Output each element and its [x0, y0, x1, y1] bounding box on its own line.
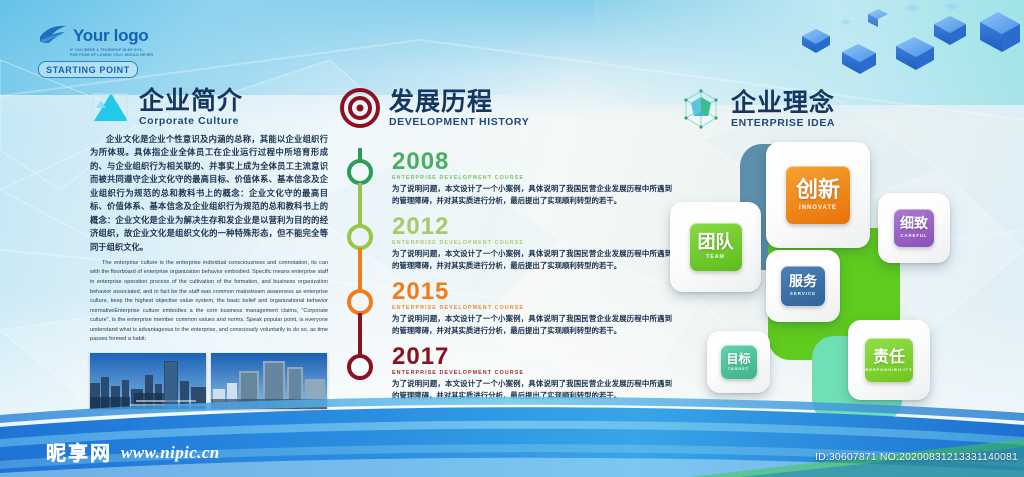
footer-brand-zh: 昵享网 — [46, 443, 112, 463]
logo-tagline: IF YOU WERE A TEARDROP IN MY EYE, FOR FE… — [70, 48, 168, 58]
idea-chip-en: SERVICE — [790, 292, 816, 296]
idea-chip: 目标 TARGET — [721, 345, 757, 379]
corporate-content: 企业文化是企业个性意识及内涵的总称，其能以企业组织行为所体现。具体指企业全体员工… — [90, 133, 328, 409]
timeline-year: 2015 — [392, 280, 672, 304]
idea-chip-zh: 团队 — [698, 234, 734, 252]
timeline-subtitle: ENTERPRISE DEVELOPMENT COURSE — [392, 175, 672, 181]
idea-chip: 创新 INNOVATE — [786, 166, 850, 224]
corporate-title-en: Corporate Culture — [139, 116, 243, 127]
timeline-entry-2008[interactable]: 2008 ENTERPRISE DEVELOPMENT COURSE 为了说明问… — [392, 150, 672, 208]
idea-chip: 团队 TEAM — [690, 223, 742, 271]
logo-block[interactable]: Your logo IF YOU WERE A TEARDROP IN MY E… — [38, 24, 178, 78]
idea-chip: 服务 SERVICE — [781, 266, 825, 306]
timeline-subtitle: ENTERPRISE DEVELOPMENT COURSE — [392, 240, 672, 246]
swoosh-wing-logo-icon — [38, 24, 68, 46]
timeline-entry-2012[interactable]: 2012 ENTERPRISE DEVELOPMENT COURSE 为了说明问… — [392, 215, 672, 273]
idea-chip-zh: 创新 — [796, 180, 840, 202]
timeline-year: 2017 — [392, 345, 672, 369]
floating-3d-blocks-decoration — [784, 0, 1024, 95]
idea-chip-en: TARGET — [728, 368, 749, 372]
poster-canvas: Your logo IF YOU WERE A TEARDROP IN MY E… — [0, 0, 1024, 477]
idea-title-en: ENTERPRISE IDEA — [731, 118, 835, 129]
idea-chip-en: RESPONSIBILITY — [865, 368, 912, 372]
triangle-mountain-icon — [92, 90, 130, 124]
image-id-watermark: ID:30607871 NO:20200831213331140081 — [815, 451, 1018, 463]
idea-chip-zh: 目标 — [726, 353, 750, 365]
polygon-gem-network-icon — [680, 88, 722, 130]
timeline-subtitle: ENTERPRISE DEVELOPMENT COURSE — [392, 370, 672, 376]
development-timeline: 2008 ENTERPRISE DEVELOPMENT COURSE 为了说明问… — [340, 148, 670, 398]
history-title-zh: 发展历程 — [389, 89, 529, 114]
history-section-header: 发展历程 DEVELOPMENT HISTORY — [340, 88, 529, 128]
idea-chip-zh: 责任 — [873, 349, 905, 365]
history-title-en: DEVELOPMENT HISTORY — [389, 117, 529, 128]
timeline-subtitle: ENTERPRISE DEVELOPMENT COURSE — [392, 305, 672, 311]
idea-card-target[interactable]: 目标 TARGET — [707, 331, 770, 393]
timeline-description: 为了说明问题，本文设计了一个小案例，具体说明了我国民营企业发展历程中所遇到的管理… — [392, 313, 672, 338]
corporate-section-header: 企业简介 Corporate Culture — [92, 88, 243, 127]
idea-chip-zh: 细致 — [900, 217, 928, 231]
bottom-wave-band — [0, 387, 1024, 477]
idea-chip-en: TEAM — [706, 255, 725, 260]
idea-card-team[interactable]: 团队 TEAM — [670, 202, 761, 292]
corporate-body-zh: 企业文化是企业个性意识及内涵的总称，其能以企业组织行为所体现。具体指企业全体员工… — [90, 133, 328, 254]
idea-card-service[interactable]: 服务 SERVICE — [766, 250, 840, 322]
footer-brand[interactable]: 昵享网 www.nipic.cn — [46, 443, 220, 463]
logo-name: Your logo — [73, 27, 148, 44]
idea-title-zh: 企业理念 — [731, 90, 835, 115]
idea-card-cluster: 团队 TEAM 创新 INNOVATE 细致 CAREFUL 服务 SERVIC… — [660, 140, 1024, 415]
logo-tagline-line2: FOR FEAR OF LOSING YOU I WOULD NEVER — [70, 53, 168, 58]
idea-section-header: 企业理念 ENTERPRISE IDEA — [680, 88, 835, 130]
starting-point-badge[interactable]: STARTING POINT — [38, 61, 138, 78]
idea-chip-en: INNOVATE — [799, 205, 837, 211]
idea-chip-zh: 服务 — [789, 275, 817, 289]
timeline-year: 2012 — [392, 215, 672, 239]
logo-row: Your logo — [38, 24, 178, 46]
corporate-body-en: The enterprise culture is the enterprise… — [90, 259, 328, 345]
corporate-title-zh: 企业简介 — [139, 88, 243, 113]
timeline-rail — [340, 148, 380, 398]
idea-card-careful[interactable]: 细致 CAREFUL — [878, 193, 950, 263]
timeline-description: 为了说明问题，本文设计了一个小案例，具体说明了我国民营企业发展历程中所遇到的管理… — [392, 248, 672, 273]
idea-chip: 细致 CAREFUL — [894, 209, 934, 247]
timeline-description: 为了说明问题，本文设计了一个小案例，具体说明了我国民营企业发展历程中所遇到的管理… — [392, 183, 672, 208]
idea-card-innovate[interactable]: 创新 INNOVATE — [766, 142, 870, 248]
target-rings-icon — [340, 88, 380, 128]
timeline-year: 2008 — [392, 150, 672, 174]
footer-brand-url: www.nipic.cn — [121, 443, 220, 463]
timeline-entry-2015[interactable]: 2015 ENTERPRISE DEVELOPMENT COURSE 为了说明问… — [392, 280, 672, 338]
idea-chip-en: CAREFUL — [900, 234, 927, 238]
idea-chip: 责任 RESPONSIBILITY — [865, 338, 913, 382]
